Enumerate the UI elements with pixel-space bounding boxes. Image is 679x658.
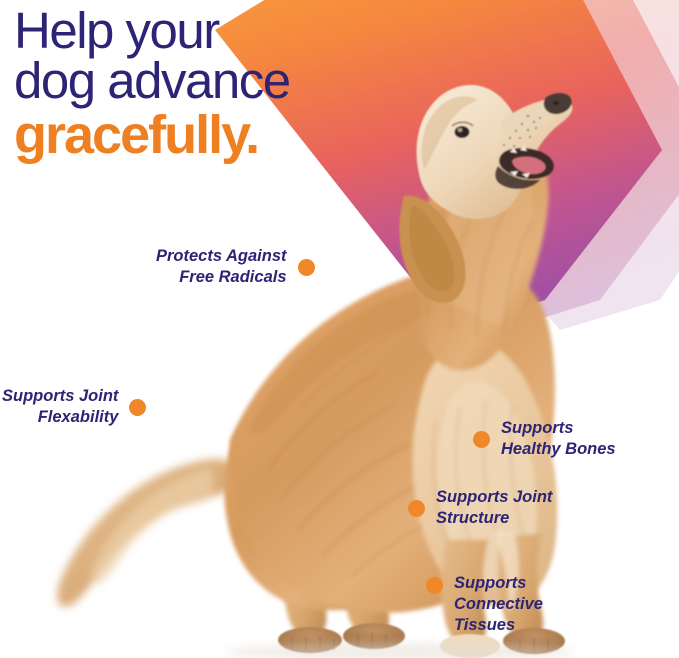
callout-joint-structure-line-1: Supports Joint bbox=[436, 488, 552, 506]
callout-supports-healthy-bones[interactable]: Supports Healthy Bones bbox=[473, 418, 616, 460]
callout-supports-joint-structure[interactable]: Supports Joint Structure bbox=[408, 487, 552, 529]
callout-connective-line-2: Connective bbox=[454, 595, 543, 613]
headline-line-3-accent: gracefully. bbox=[14, 109, 444, 162]
page-title: Help your dog advance gracefully. bbox=[14, 6, 444, 162]
callout-dot-flexability bbox=[129, 399, 146, 416]
dog-chest-ruff bbox=[412, 340, 557, 606]
callout-dot-joint-structure bbox=[408, 500, 425, 517]
callout-dot-free-radicals bbox=[298, 259, 315, 276]
callout-label-connective: Supports Connective Tissues bbox=[454, 573, 543, 636]
callout-flexability-line-1: Supports Joint bbox=[2, 387, 118, 405]
callout-dot-healthy-bones bbox=[473, 431, 490, 448]
dog-tail bbox=[57, 459, 240, 607]
callout-free-radicals-line-1: Protects Against bbox=[156, 247, 287, 265]
callout-dot-connective bbox=[426, 577, 443, 594]
callout-connective-line-1: Supports bbox=[454, 574, 526, 592]
callout-flexability-line-2: Flexability bbox=[38, 408, 119, 426]
callout-label-flexability: Supports Joint Flexability bbox=[2, 386, 118, 428]
promo-banner: Help your dog advance gracefully. bbox=[0, 0, 679, 658]
dog-rear-legs bbox=[283, 520, 392, 638]
callout-label-healthy-bones: Supports Healthy Bones bbox=[501, 418, 616, 460]
callout-protects-against-free-radicals[interactable]: Protects Against Free Radicals bbox=[156, 246, 315, 288]
callout-label-joint-structure: Supports Joint Structure bbox=[436, 487, 552, 529]
headline-line-1: Help your bbox=[14, 6, 444, 56]
callout-label-free-radicals: Protects Against Free Radicals bbox=[156, 246, 287, 288]
callout-healthy-bones-line-1: Supports bbox=[501, 419, 573, 437]
callout-joint-structure-line-2: Structure bbox=[436, 509, 509, 527]
callout-healthy-bones-line-2: Healthy Bones bbox=[501, 440, 616, 458]
callout-supports-joint-flexability[interactable]: Supports Joint Flexability bbox=[2, 386, 146, 428]
callout-connective-line-3: Tissues bbox=[454, 616, 515, 634]
callout-free-radicals-line-2: Free Radicals bbox=[179, 268, 286, 286]
dog-hindquarters bbox=[224, 391, 431, 611]
dog-neck bbox=[417, 131, 549, 370]
callout-supports-connective-tissues[interactable]: Supports Connective Tissues bbox=[426, 573, 543, 636]
headline-line-2: dog advance bbox=[14, 56, 444, 106]
